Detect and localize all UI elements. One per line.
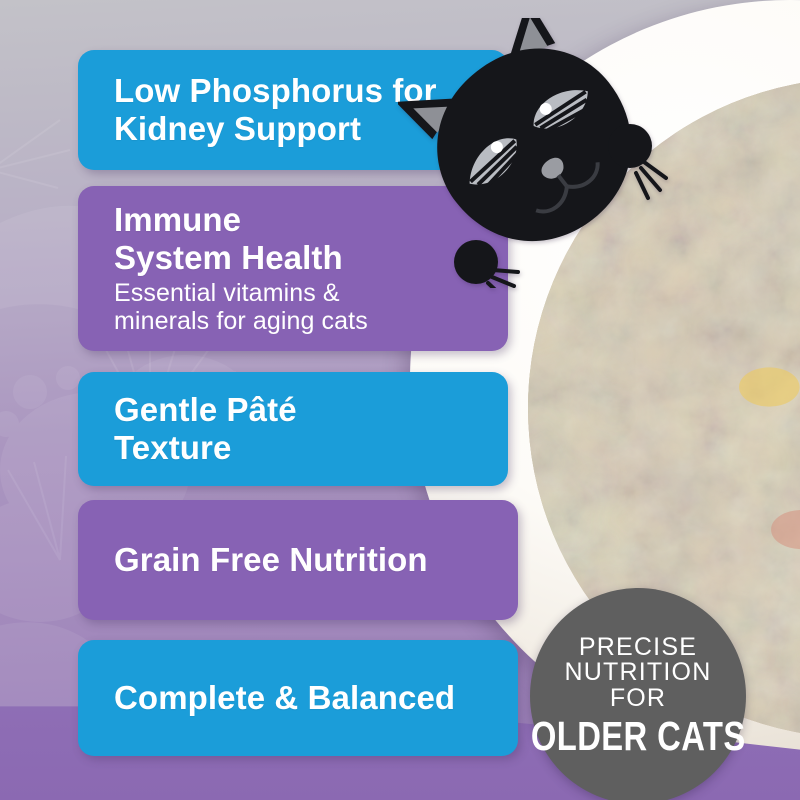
feature-banner-grain-free[interactable]: Grain Free Nutrition — [78, 500, 518, 620]
feature-banner-complete-balanced[interactable]: Complete & Balanced — [78, 640, 518, 756]
feature-title: Gentle PâtéTexture — [114, 391, 508, 466]
feature-title: Grain Free Nutrition — [114, 541, 518, 579]
badge-line-2: NUTRITION — [565, 660, 712, 686]
badge-highlight: OLDER CATS — [531, 716, 746, 757]
badge-line-3: FOR — [610, 686, 666, 712]
feature-banner-gentle-pate[interactable]: Gentle PâtéTexture — [78, 372, 508, 486]
black-cat-head-icon — [398, 18, 668, 288]
badge-line-1: PRECISE — [579, 635, 697, 661]
feature-title: Complete & Balanced — [114, 679, 518, 717]
infographic-canvas: Low Phosphorus forKidney Support ImmuneS… — [0, 0, 800, 800]
older-cats-badge: PRECISE NUTRITION FOR OLDER CATS — [530, 588, 746, 800]
